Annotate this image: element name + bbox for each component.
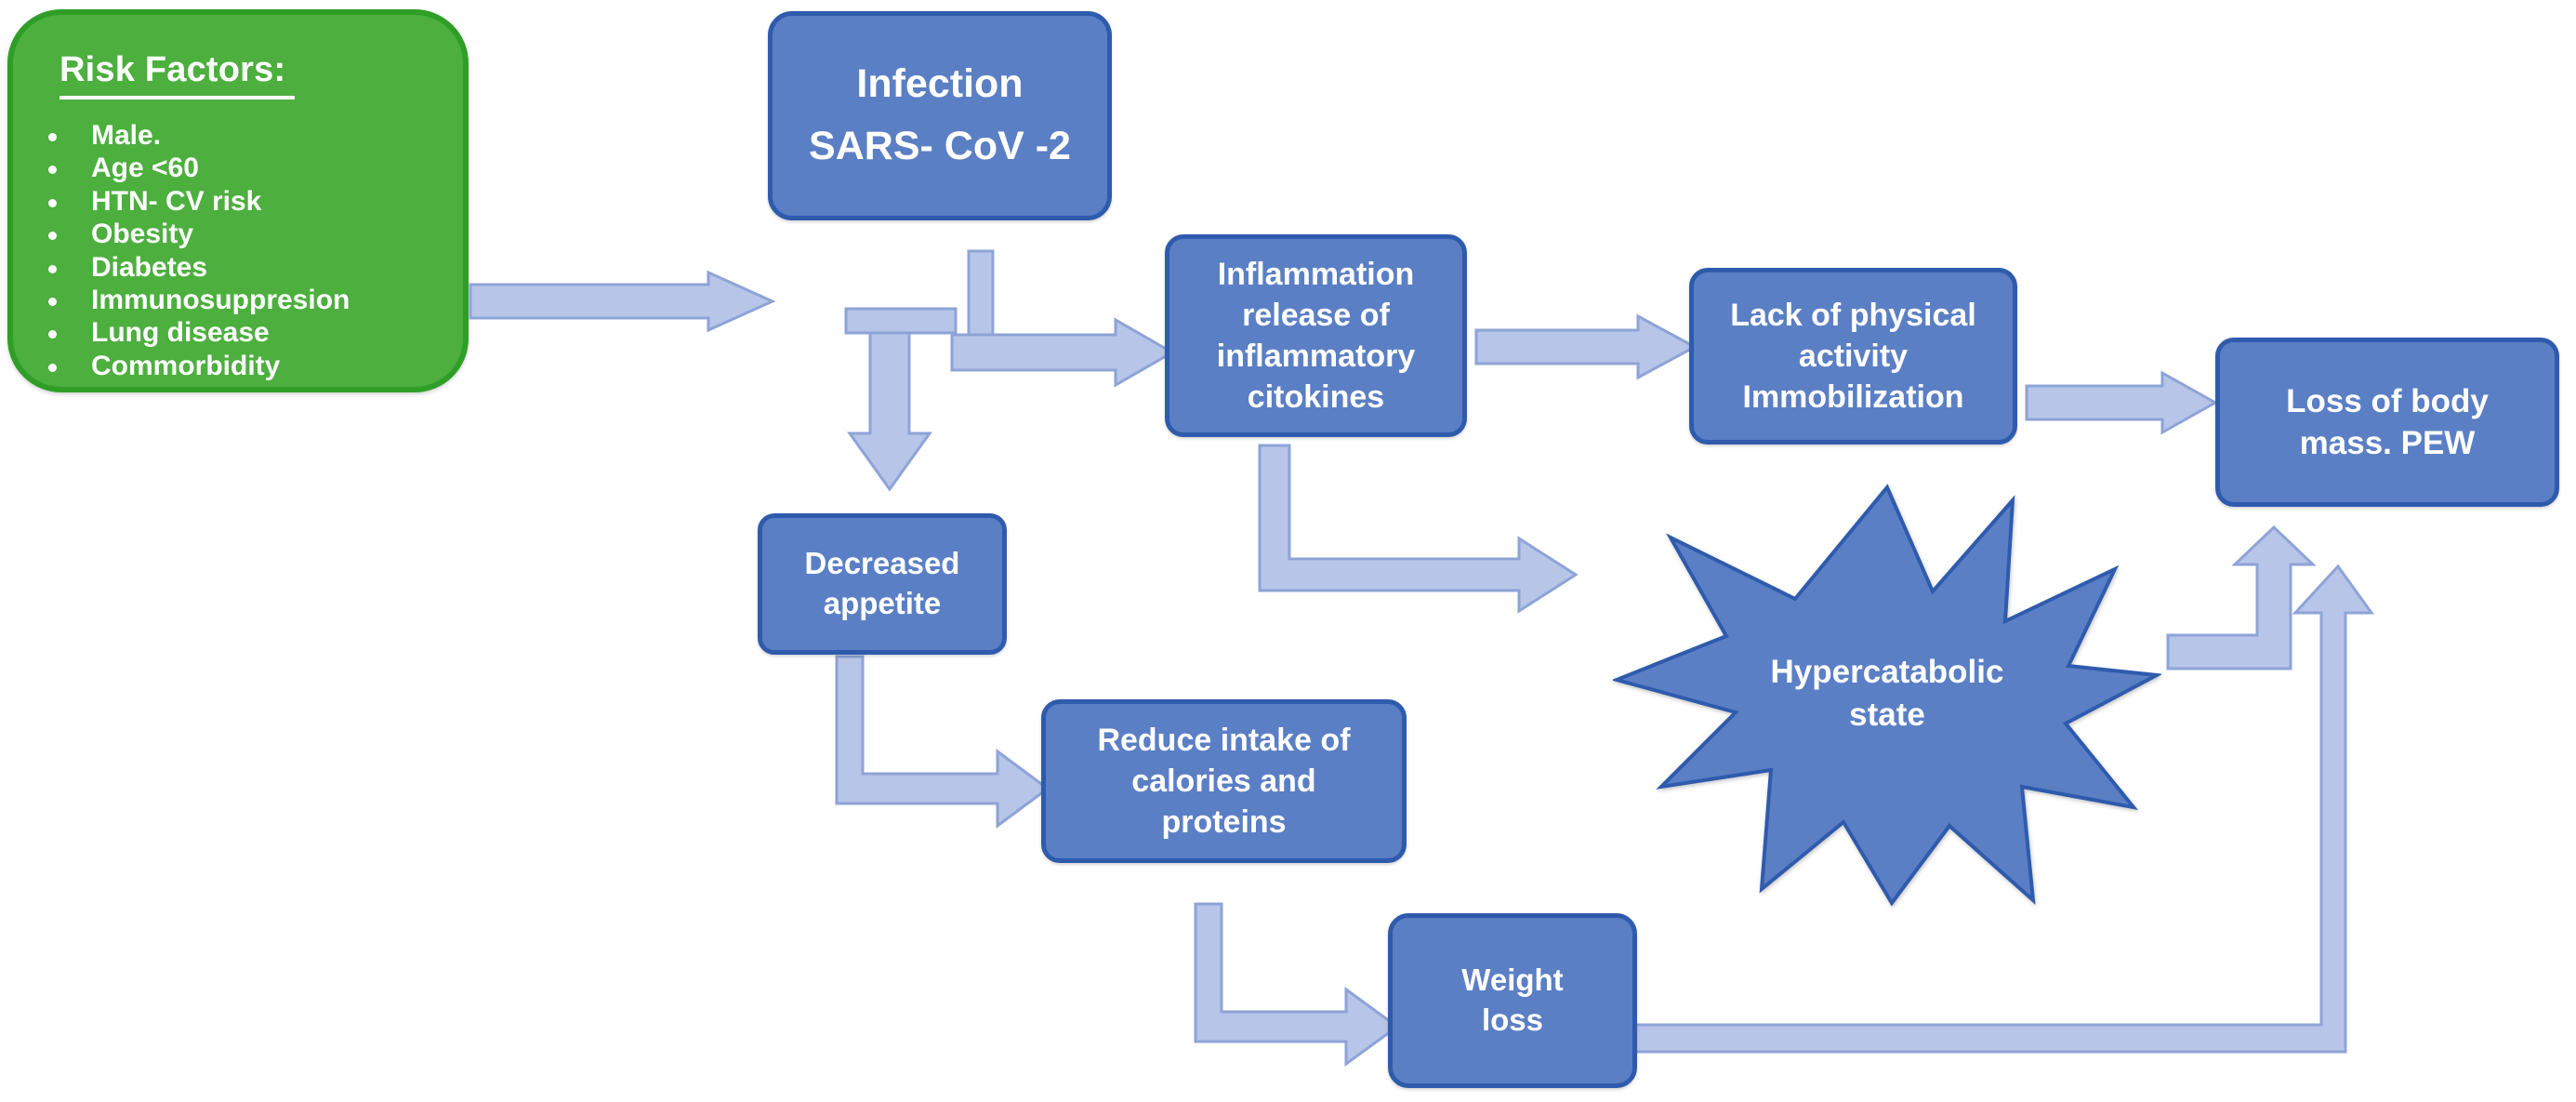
list-item: Diabetes	[35, 251, 350, 284]
risk-factor-label: HTN- CV risk	[91, 186, 261, 217]
bullet-icon	[48, 364, 57, 372]
list-item: HTN- CV risk	[35, 185, 350, 218]
bullet-icon	[48, 166, 57, 174]
node-reduce-line-2: calories and	[1051, 761, 1396, 802]
bullet-icon	[48, 232, 57, 240]
node-inflammation-line-4: citokines	[1175, 377, 1457, 418]
node-loss-line-1: Loss of body	[2226, 380, 2549, 423]
node-lack-of-physical-activity[interactable]: Lack of physical activity Immobilization	[1689, 268, 2017, 445]
node-weight-line-1: Weight	[1398, 961, 1627, 1001]
arrow-infection-to-inflammation	[950, 316, 1175, 389]
risk-factor-label: Immunosuppresion	[91, 285, 350, 315]
node-weight-line-2: loss	[1398, 1001, 1627, 1041]
risk-factors-title: Risk Factors:	[59, 50, 295, 100]
node-appetite-line-2: appetite	[768, 584, 997, 624]
node-inflammation-line-2: release of	[1175, 295, 1457, 336]
list-item: Lung disease	[35, 316, 350, 349]
node-lack-line-2: activity	[1699, 336, 2007, 377]
arrow-lack-activity-to-loss-mass	[2025, 370, 2218, 435]
node-appetite-line-1: Decreased	[768, 544, 997, 584]
risk-factor-label: Obesity	[91, 219, 193, 249]
risk-factors-panel: Risk Factors: Male. Age <60 HTN- CV risk…	[7, 9, 469, 392]
risk-factor-label: Lung disease	[91, 317, 270, 348]
node-weight-loss[interactable]: Weight loss	[1388, 913, 1637, 1088]
risk-factor-label: Commorbidity	[91, 351, 280, 381]
node-infection[interactable]: Infection SARS- CoV -2	[768, 11, 1112, 220]
risk-factor-label: Male.	[91, 120, 161, 151]
arrow-inflammation-to-lack-activity	[1474, 313, 1698, 380]
node-decreased-appetite[interactable]: Decreased appetite	[758, 513, 1007, 655]
diagram-canvas: Risk Factors: Male. Age <60 HTN- CV risk…	[0, 0, 2576, 1102]
list-item: Age <60	[35, 152, 350, 184]
bullet-icon	[48, 133, 57, 141]
node-inflammation-line-3: inflammatory	[1175, 336, 1457, 377]
bullet-icon	[48, 265, 57, 273]
node-loss-line-2: mass. PEW	[2226, 422, 2549, 465]
node-reduce-intake[interactable]: Reduce intake of calories and proteins	[1041, 699, 1407, 863]
node-inflammation[interactable]: Inflammation release of inflammatory cit…	[1165, 234, 1467, 437]
node-lack-line-1: Lack of physical	[1699, 295, 2007, 336]
list-item: Male.	[35, 119, 350, 152]
node-reduce-line-3: proteins	[1051, 802, 1396, 843]
node-infection-line-1: Infection	[778, 59, 1102, 111]
arrow-reduce-intake-to-weight-loss	[1194, 902, 1400, 1069]
bullet-icon	[48, 330, 57, 339]
arrow-infection-to-appetite	[844, 307, 965, 493]
arrow-risk-to-infection	[469, 270, 775, 333]
list-item: Immunosuppresion	[35, 284, 350, 316]
node-reduce-line-1: Reduce intake of	[1051, 720, 1396, 761]
bullet-icon	[48, 199, 57, 207]
list-item: Obesity	[35, 218, 350, 250]
risk-factors-list: Male. Age <60 HTN- CV risk Obesity Diabe…	[35, 119, 350, 382]
node-infection-line-2: SARS- CoV -2	[778, 121, 1102, 173]
arrow-appetite-to-reduce-intake	[835, 655, 1050, 833]
node-loss-of-body-mass[interactable]: Loss of body mass. PEW	[2215, 338, 2559, 507]
node-inflammation-line-1: Inflammation	[1175, 254, 1457, 295]
node-lack-line-3: Immobilization	[1699, 377, 2007, 418]
hypercatabolic-state-starburst: Hypercatabolic state	[1613, 480, 2161, 908]
risk-factor-label: Age <60	[91, 153, 199, 183]
bullet-icon	[48, 298, 57, 306]
arrow-inflammation-to-hypercatabolic	[1258, 444, 1579, 618]
list-item: Commorbidity	[35, 350, 350, 382]
risk-factor-label: Diabetes	[91, 252, 207, 283]
